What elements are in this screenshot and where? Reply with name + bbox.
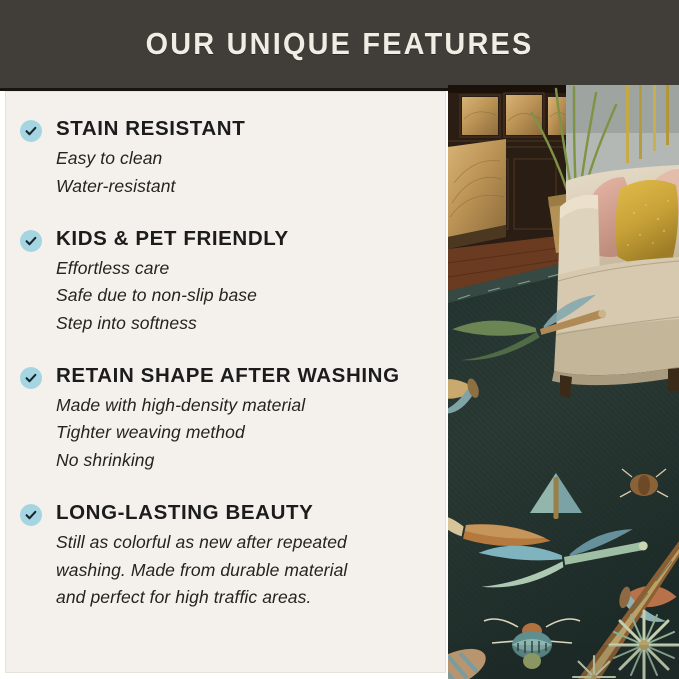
check-circle-icon: [20, 504, 42, 526]
feature-body: RETAIN SHAPE AFTER WASHING Made with hig…: [56, 363, 400, 474]
check-circle-icon: [20, 120, 42, 142]
sofa-leg: [668, 368, 679, 391]
features-panel: STAIN RESISTANT Easy to clean Water-resi…: [5, 91, 446, 673]
feature-line: Effortless care: [56, 255, 289, 282]
pillow-gold: [615, 180, 678, 265]
feature-title: STAIN RESISTANT: [56, 116, 245, 142]
feature-line: and perfect for high traffic areas.: [56, 584, 347, 611]
sofa: [552, 165, 679, 399]
stone-block: [448, 139, 506, 237]
product-room-photo: [448, 85, 679, 679]
feature-line: Tighter weaving method: [56, 419, 400, 446]
feature-line: Water-resistant: [56, 173, 245, 200]
header-banner: OUR UNIQUE FEATURES: [0, 0, 679, 88]
feature-body: KIDS & PET FRIENDLY Effortless care Safe…: [56, 226, 289, 337]
feature-body: STAIN RESISTANT Easy to clean Water-resi…: [56, 116, 245, 200]
feature-body: LONG-LASTING BEAUTY Still as colorful as…: [56, 500, 347, 611]
feature-lines: Effortless care Safe due to non-slip bas…: [56, 255, 289, 337]
feature-line: Still as colorful as new after repeated: [56, 529, 347, 556]
feature-item: KIDS & PET FRIENDLY Effortless care Safe…: [20, 226, 431, 337]
feature-lines: Easy to clean Water-resistant: [56, 145, 245, 200]
check-circle-icon: [20, 367, 42, 389]
feature-line: washing. Made from durable material: [56, 557, 347, 584]
feature-lines: Still as colorful as new after repeated …: [56, 529, 347, 611]
sofa-leg: [560, 375, 572, 399]
feature-line: Safe due to non-slip base: [56, 282, 289, 309]
feature-title: LONG-LASTING BEAUTY: [56, 500, 347, 526]
feature-item: STAIN RESISTANT Easy to clean Water-resi…: [20, 116, 431, 200]
feature-line: Step into softness: [56, 310, 289, 337]
feature-infographic: OUR UNIQUE FEATURES STAIN RESISTANT Easy…: [0, 0, 679, 679]
feature-line: Made with high-density material: [56, 392, 400, 419]
feature-title: RETAIN SHAPE AFTER WASHING: [56, 363, 400, 389]
feature-item: RETAIN SHAPE AFTER WASHING Made with hig…: [20, 363, 431, 474]
feature-line: No shrinking: [56, 447, 400, 474]
feature-line: Easy to clean: [56, 145, 245, 172]
page-title: OUR UNIQUE FEATURES: [146, 26, 534, 62]
check-circle-icon: [20, 230, 42, 252]
feature-lines: Made with high-density material Tighter …: [56, 392, 400, 474]
feature-item: LONG-LASTING BEAUTY Still as colorful as…: [20, 500, 431, 611]
feature-title: KIDS & PET FRIENDLY: [56, 226, 289, 252]
